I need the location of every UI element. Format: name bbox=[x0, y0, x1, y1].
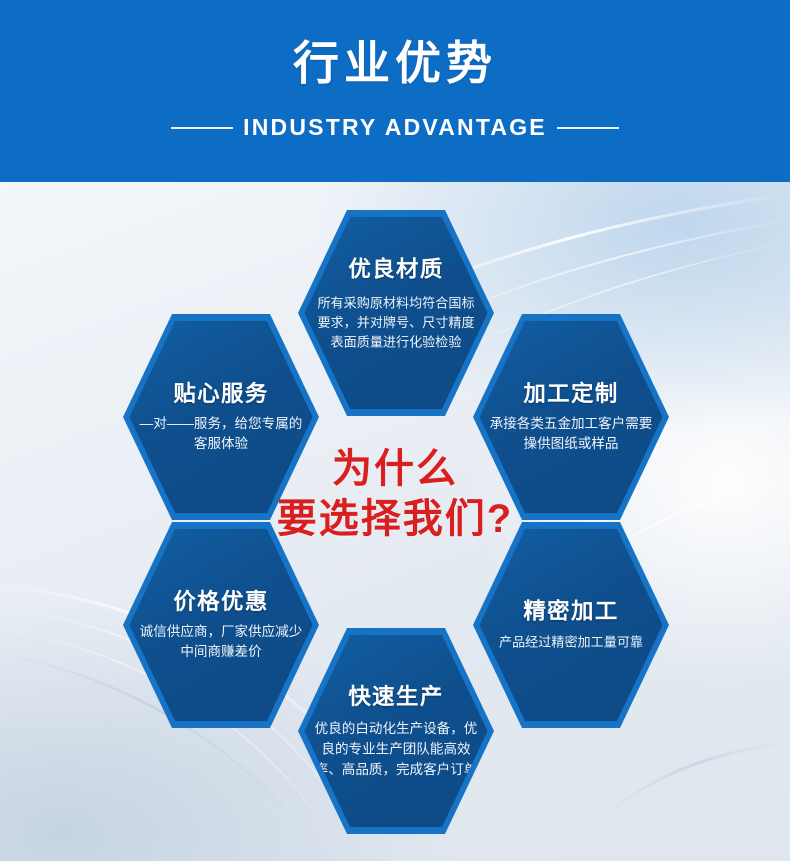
hexagon-grid: 优良材质 所有采购原材料均符合国标要求，并对牌号、尺寸精度表面质量进行化验检验 … bbox=[0, 182, 790, 861]
hex-card-body: 优良材质 所有采购原材料均符合国标要求，并对牌号、尺寸精度表面质量进行化验检验 bbox=[304, 217, 487, 410]
hex-card-body: 快速生产 优良的白动化生产设备，优良的专业生产团队能高效率、高品质，完成客户订单 bbox=[304, 635, 487, 828]
hex-card-body: 精密加工 产品经过精密加工量可靠 bbox=[479, 529, 662, 722]
hex-title: 优良材质 bbox=[348, 256, 443, 284]
hex-card-bottom-right[interactable]: 精密加工 产品经过精密加工量可靠 bbox=[473, 522, 669, 728]
hex-title: 价格优惠 bbox=[173, 588, 268, 616]
hex-card-left[interactable]: 贴心服务 —对——服务，给您专属的客服体验 bbox=[123, 314, 319, 520]
hex-description: —对——服务，给您专属的客服体验 bbox=[137, 415, 305, 454]
hex-description: 诚信供应商，厂家供应减少中间商赚差价 bbox=[137, 623, 305, 662]
page-title: 行业优势 bbox=[0, 32, 790, 94]
hex-card-top[interactable]: 优良材质 所有采购原材料均符合国标要求，并对牌号、尺寸精度表面质量进行化验检验 bbox=[298, 210, 494, 416]
hex-card-body: 加工定制 承接各类五金加工客户需要操供图纸或样品 bbox=[479, 321, 662, 514]
hex-description: 承接各类五金加工客户需要操供图纸或样品 bbox=[487, 415, 655, 454]
hex-title: 精密加工 bbox=[523, 598, 618, 626]
hex-card-body: 价格优惠 诚信供应商，厂家供应减少中间商赚差价 bbox=[129, 529, 312, 722]
hex-description: 优良的白动化生产设备，优良的专业生产团队能高效率、高品质，完成客户订单 bbox=[312, 719, 480, 781]
industry-advantage-page: 行业优势 INDUSTRY ADVANTAGE bbox=[0, 0, 790, 861]
hex-title: 加工定制 bbox=[523, 380, 618, 408]
hex-card-right[interactable]: 加工定制 承接各类五金加工客户需要操供图纸或样品 bbox=[473, 314, 669, 520]
hex-title: 贴心服务 bbox=[173, 380, 268, 408]
page-subtitle: INDUSTRY ADVANTAGE bbox=[243, 114, 547, 141]
hex-description: 所有采购原材料均符合国标要求，并对牌号、尺寸精度表面质量进行化验检验 bbox=[312, 293, 480, 352]
hex-card-body: 贴心服务 —对——服务，给您专属的客服体验 bbox=[129, 321, 312, 514]
divider-line-right bbox=[557, 127, 619, 129]
divider-line-left bbox=[171, 127, 233, 129]
hex-card-bottom[interactable]: 快速生产 优良的白动化生产设备，优良的专业生产团队能高效率、高品质，完成客户订单 bbox=[298, 628, 494, 834]
hex-title: 快速生产 bbox=[348, 683, 443, 711]
page-header-banner: 行业优势 INDUSTRY ADVANTAGE bbox=[0, 0, 790, 182]
content-stage: 优良材质 所有采购原材料均符合国标要求，并对牌号、尺寸精度表面质量进行化验检验 … bbox=[0, 182, 790, 861]
hex-description: 产品经过精密加工量可靠 bbox=[499, 632, 643, 652]
hex-card-bottom-left[interactable]: 价格优惠 诚信供应商，厂家供应减少中间商赚差价 bbox=[123, 522, 319, 728]
subtitle-row: INDUSTRY ADVANTAGE bbox=[0, 114, 790, 141]
